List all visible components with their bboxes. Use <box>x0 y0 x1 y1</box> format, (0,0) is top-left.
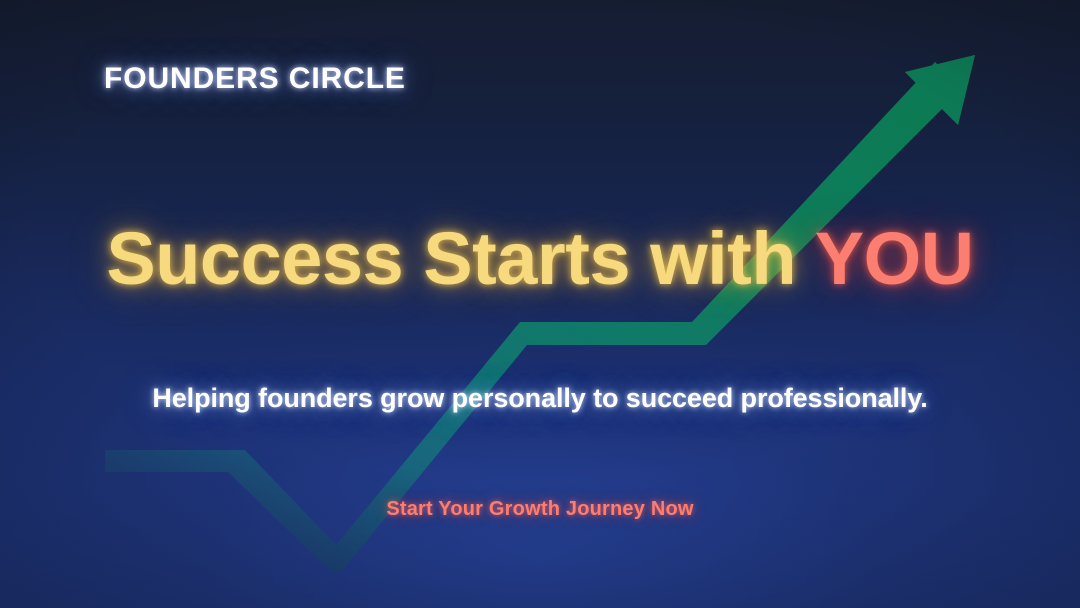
subtitle-text: Helping founders grow personally to succ… <box>0 383 1080 414</box>
page-title: Success Starts with YOU <box>0 222 1080 296</box>
headline-main-text: Success Starts with <box>106 217 814 300</box>
poster-canvas: FOUNDERS CIRCLE Success Starts with YOU … <box>0 0 1080 608</box>
poster-content: FOUNDERS CIRCLE Success Starts with YOU … <box>0 0 1080 608</box>
headline-accent-text: YOU <box>815 217 974 300</box>
brand-wordmark: FOUNDERS CIRCLE <box>104 62 406 96</box>
cta-text[interactable]: Start Your Growth Journey Now <box>0 498 1080 521</box>
